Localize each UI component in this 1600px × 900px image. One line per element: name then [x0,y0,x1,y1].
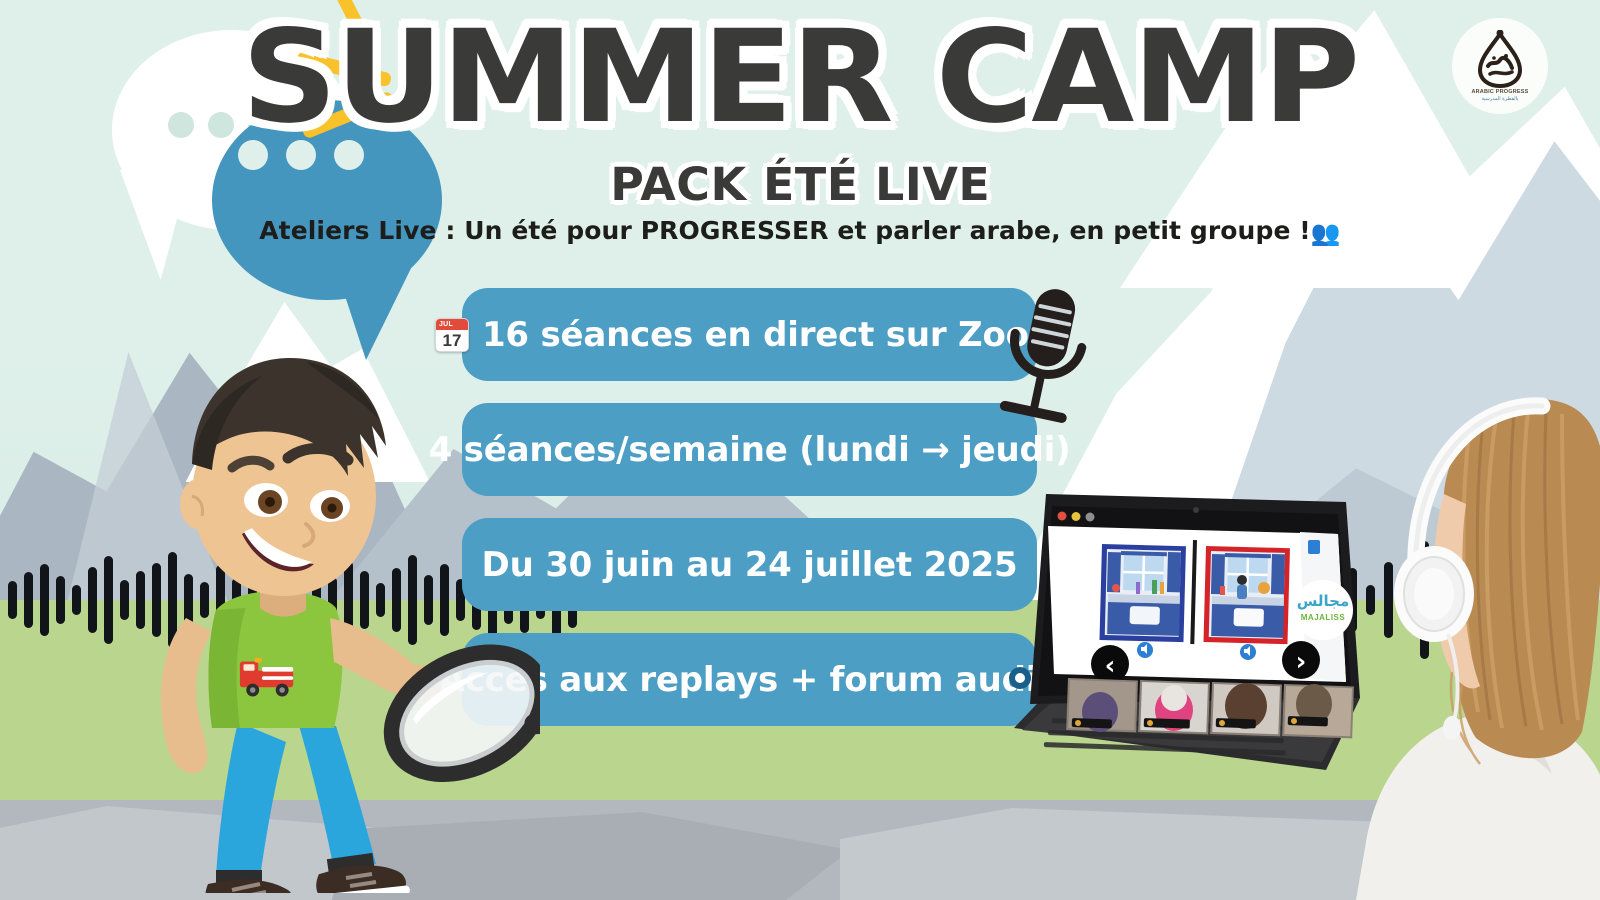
svg-text:›: › [1296,647,1307,677]
brand-logo-arabic: بالفطرة المدرسية [1481,96,1518,102]
people-icon: 👥 [1311,219,1341,247]
microphone-icon [990,282,1100,447]
title-container: SUMMER CAMP [0,14,1600,142]
feature-pill-replays-forum[interactable]: Accès aux replays + forum audio [462,633,1037,726]
feature-pill-date-range[interactable]: Du 30 juin au 24 juillet 2025 [462,518,1037,611]
feature-label: 16 séances en direct sur Zoom [482,315,1064,355]
brand-logo-mark [1472,30,1528,88]
tagline-container: Ateliers Live : Un été pour PROGRESSER e… [0,216,1600,247]
feature-pill-sessions-count[interactable]: JUL 17 16 séances en direct sur Zoom [462,288,1037,381]
page-title: SUMMER CAMP [242,14,1359,142]
svg-text:‹: ‹ [1105,651,1116,681]
brand-logo: ARABIC PROGRESS بالفطرة المدرسية [1452,18,1548,114]
girl-with-headphones [1356,372,1600,900]
page-tagline: Ateliers Live : Un été pour PROGRESSER e… [259,216,1341,247]
feature-pill-weekly-schedule[interactable]: 4 séances/semaine (lundi → jeudi) [462,403,1037,496]
subtitle-container: PACK ÉTÉ LIVE [0,158,1600,211]
poster-canvas: SUMMER CAMP PACK ÉTÉ LIVE Ateliers Live … [0,0,1600,900]
page-subtitle: PACK ÉTÉ LIVE [610,158,990,211]
slide-logo-arabic: مجالس [1297,592,1350,610]
feature-pill-list: JUL 17 16 séances en direct sur Zoom 4 s… [462,288,1037,748]
laptop-zoom-call: مجالس MAJALISS ‹ › [1008,482,1378,782]
feature-label: Du 30 juin au 24 juillet 2025 [482,545,1018,585]
tagline-text: Ateliers Live : Un été pour PROGRESSER e… [259,216,1311,245]
brand-logo-latin: ARABIC PROGRESS [1471,89,1528,95]
slide-logo-text: MAJALISS [1301,613,1346,622]
boy-character-illustration [120,318,540,893]
